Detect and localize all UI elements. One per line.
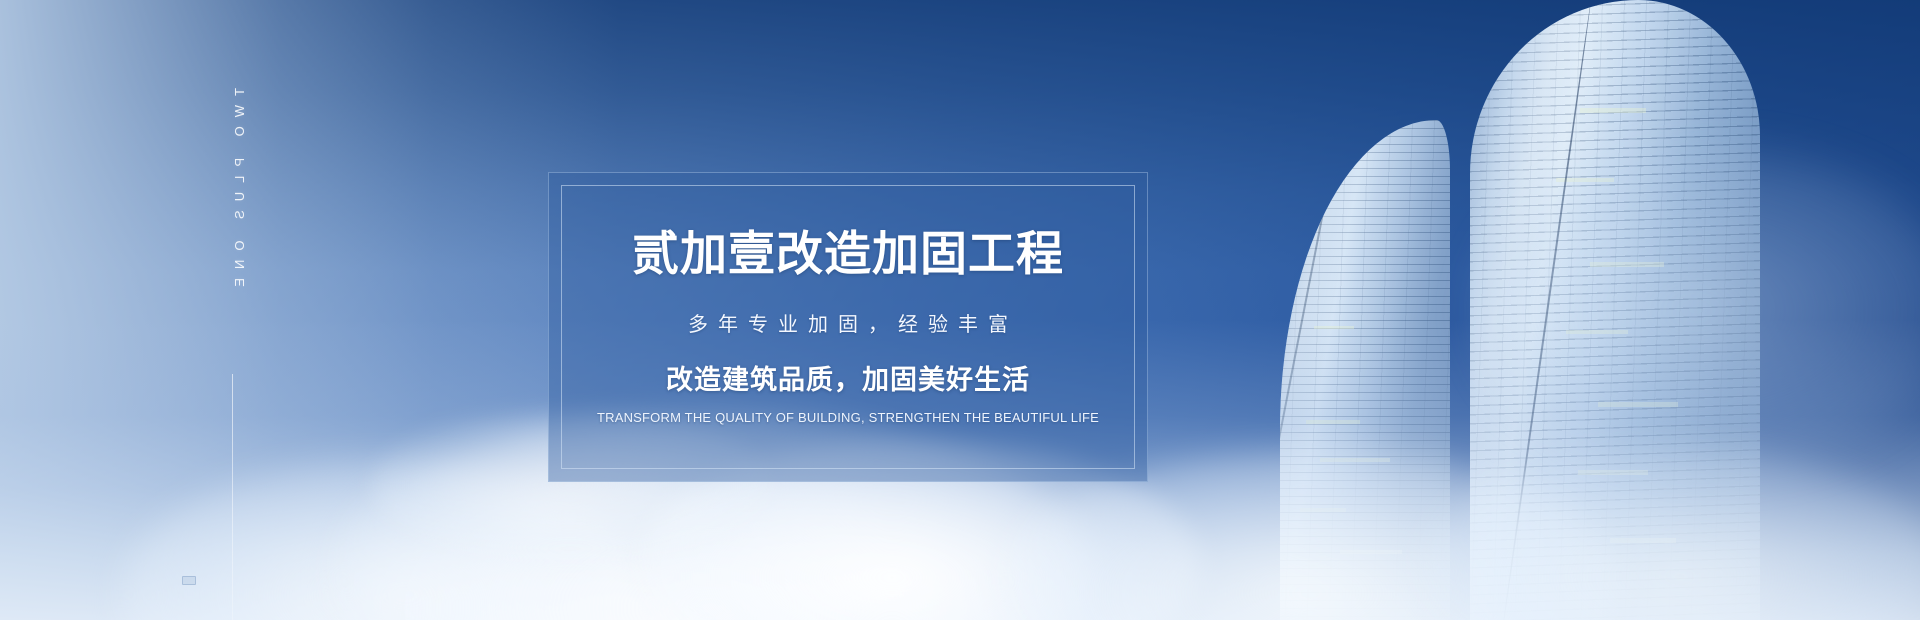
corner-mark-icon (182, 576, 196, 585)
subheadline-text: 多年专业加固，经验丰富 (678, 315, 1018, 335)
hero-content-panel: 贰加壹改造加固工程 多年专业加固，经验丰富 改造建筑品质，加固美好生活 TRAN… (548, 172, 1148, 482)
headline-title: 贰加壹改造加固工程 (632, 230, 1064, 277)
tower-right-lit-window (1580, 108, 1646, 113)
vertical-divider-line (232, 374, 233, 620)
tower-right-lit-window (1590, 262, 1664, 267)
vertical-brand-text: TWO PLUS ONE (232, 88, 247, 296)
english-tagline-text: TRANSFORM THE QUALITY OF BUILDING, STREN… (597, 411, 1099, 424)
hero-banner: TWO PLUS ONE 贰加壹改造加固工程 多年专业加固，经验丰富 改造建筑品… (0, 0, 1920, 620)
tagline-text: 改造建筑品质，加固美好生活 (666, 367, 1030, 394)
panel-text-stack: 贰加壹改造加固工程 多年专业加固，经验丰富 改造建筑品质，加固美好生活 TRAN… (549, 173, 1147, 481)
